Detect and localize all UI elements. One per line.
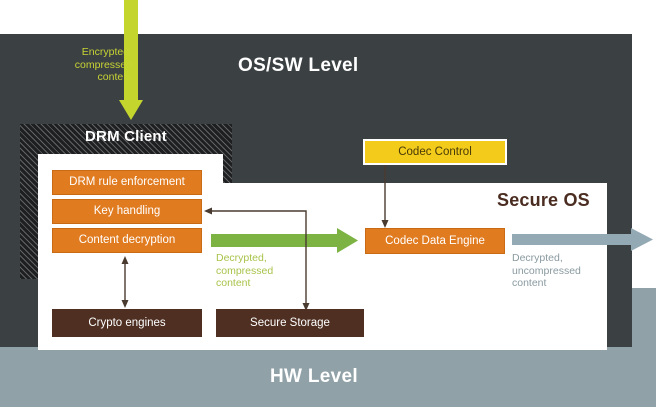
- label-decrypted-compressed-content: Decrypted, compressed content: [216, 252, 306, 290]
- box-codec-data-engine[interactable]: Codec Data Engine: [365, 228, 505, 254]
- box-drm-rule-enforcement[interactable]: DRM rule enforcement: [52, 170, 202, 195]
- content-decryption-to-crypto-engines-arrow-icon: [122, 256, 129, 308]
- decrypted-compressed-arrow-icon: [211, 228, 358, 253]
- box-crypto-engines[interactable]: Crypto engines: [52, 309, 202, 337]
- box-codec-control[interactable]: Codec Control: [363, 139, 507, 165]
- decrypted-uncompressed-arrow-icon: [512, 228, 653, 251]
- box-content-decryption[interactable]: Content decryption: [52, 228, 202, 253]
- box-key-handling[interactable]: Key handling: [52, 199, 202, 224]
- box-secure-storage[interactable]: Secure Storage: [216, 309, 364, 337]
- label-decrypted-uncompressed-content: Decrypted, uncompressed content: [512, 252, 612, 290]
- label-encrypted-compressed-content: Encrypted, compressed content: [46, 46, 132, 84]
- diagram-canvas: DRM Client OS/SW Level HW Level Secure O…: [0, 0, 656, 407]
